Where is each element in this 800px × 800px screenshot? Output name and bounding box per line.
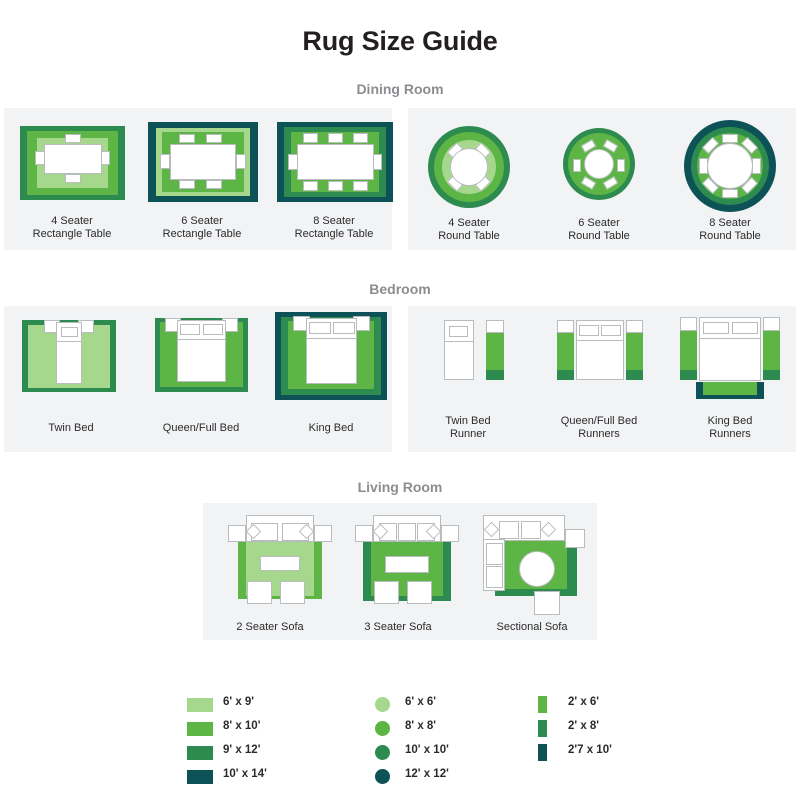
- diagram-2-seater-sofa: [228, 513, 334, 608]
- legend-label-runner-27x10: 2'7 x 10': [568, 744, 612, 756]
- legend-swatch-runner-2x8: [538, 720, 547, 737]
- legend-swatch-round-8x8: [375, 721, 390, 736]
- diagram-6-seater-rectangle-table: [148, 122, 258, 202]
- legend: 6' x 9' 8' x 10' 9' x 12' 10' x 14' 6' x…: [0, 694, 800, 794]
- legend-label-round-12x12: 12' x 12': [405, 768, 449, 780]
- diagram-king-bed-runners: [678, 317, 782, 399]
- legend-label-round-6x6: 6' x 6': [405, 696, 436, 708]
- caption-8-seater-round-table: 8 Seater Round Table: [650, 217, 800, 243]
- diagram-8-seater-rectangle-table: [277, 122, 393, 202]
- legend-swatch-runner-2x6: [538, 696, 547, 713]
- legend-label-rect-9x12: 9' x 12': [223, 744, 260, 756]
- legend-swatch-rect-10x14: [187, 770, 213, 784]
- legend-label-rect-10x14: 10' x 14': [223, 768, 267, 780]
- legend-swatch-rect-6x9: [187, 698, 213, 712]
- legend-swatch-runner-27x10: [538, 744, 547, 761]
- legend-swatch-rect-9x12: [187, 746, 213, 760]
- caption-sectional-sofa: Sectional Sofa: [452, 621, 612, 634]
- legend-label-round-8x8: 8' x 8': [405, 720, 436, 732]
- diagram-6-seater-round-table: [563, 128, 635, 200]
- diagram-8-seater-round-table: [684, 120, 776, 212]
- legend-label-rect-6x9: 6' x 9': [223, 696, 254, 708]
- section-heading-dining: Dining Room: [0, 81, 800, 97]
- legend-label-round-10x10: 10' x 10': [405, 744, 449, 756]
- legend-label-runner-2x8: 2' x 8': [568, 720, 599, 732]
- legend-swatch-rect-8x10: [187, 722, 213, 736]
- legend-swatch-round-12x12: [375, 769, 390, 784]
- legend-label-rect-8x10: 8' x 10': [223, 720, 260, 732]
- legend-swatch-round-6x6: [375, 697, 390, 712]
- legend-swatch-round-10x10: [375, 745, 390, 760]
- diagram-3-seater-sofa: [355, 513, 461, 608]
- caption-king-bed-runners: King Bed Runners: [650, 415, 800, 441]
- diagram-4-seater-rectangle-table: [20, 126, 125, 200]
- diagram-queen-full-bed-runners: [555, 320, 645, 382]
- diagram-queen-full-bed: [155, 318, 248, 392]
- rug-size-guide-infographic: Rug Size Guide Dining Room 4 Seater Rect…: [0, 0, 800, 800]
- diagram-twin-bed-runner: [440, 320, 510, 382]
- section-heading-living: Living Room: [0, 479, 800, 495]
- caption-king-bed: King Bed: [251, 422, 411, 435]
- diagram-king-bed: [275, 312, 387, 400]
- section-heading-bedroom: Bedroom: [0, 281, 800, 297]
- page-title: Rug Size Guide: [0, 26, 800, 57]
- diagram-sectional-sofa: [477, 513, 587, 608]
- diagram-4-seater-round-table: [428, 126, 510, 208]
- legend-label-runner-2x6: 2' x 6': [568, 696, 599, 708]
- diagram-twin-bed: [22, 320, 116, 392]
